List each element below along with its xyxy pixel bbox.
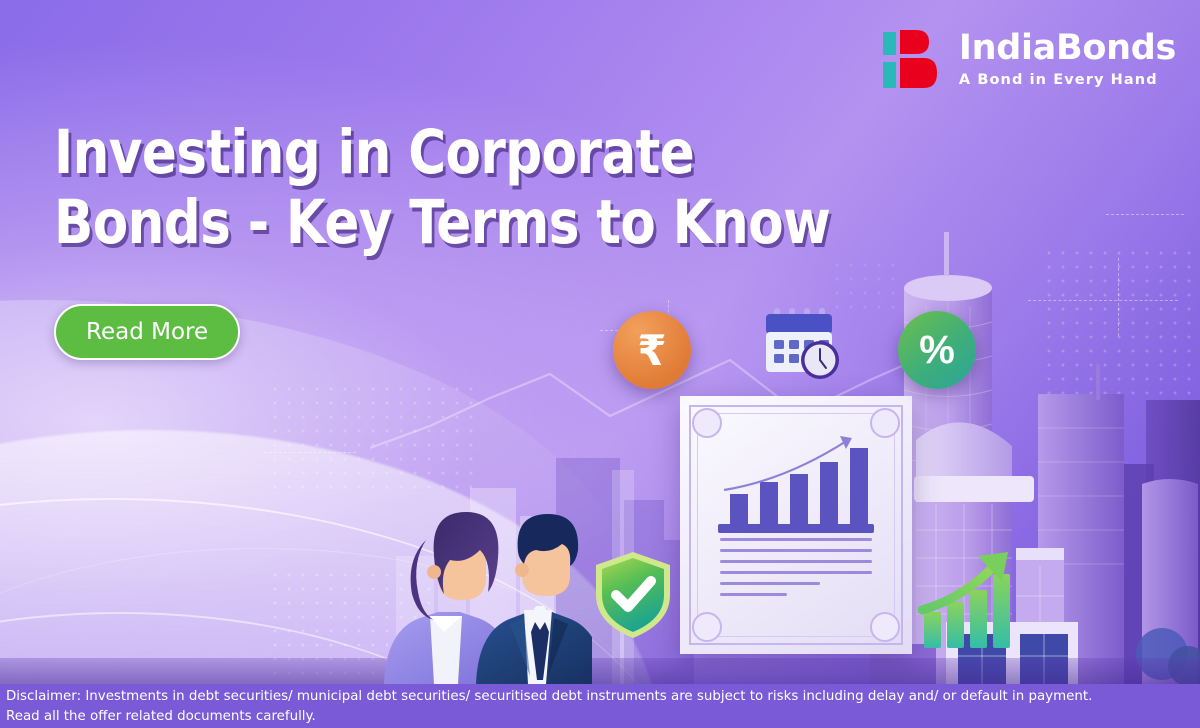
- brand-logo-text: IndiaBonds A Bond in Every Hand: [959, 31, 1176, 88]
- disclaimer-line-1: Disclaimer: Investments in debt securiti…: [6, 687, 1192, 707]
- dot-grid-pattern: [268, 382, 478, 494]
- brand-name: IndiaBonds: [959, 31, 1176, 66]
- growth-bars-icon: [918, 548, 1022, 652]
- certificate-bar-chart: [716, 432, 876, 534]
- percent-glyph: %: [919, 328, 955, 373]
- read-more-button[interactable]: Read More: [54, 304, 240, 360]
- certificate-corner-ornament: [870, 612, 900, 642]
- headline-line-1: Investing in Corporate: [54, 117, 694, 188]
- disclaimer-bar: Disclaimer: Investments in debt securiti…: [0, 684, 1200, 728]
- disclaimer-line-2: Read all the offer related documents car…: [6, 707, 1192, 727]
- page-title: Investing in Corporate Bonds - Key Terms…: [54, 118, 834, 257]
- brand-logo[interactable]: IndiaBonds A Bond in Every Hand: [883, 26, 1176, 92]
- percent-coin-icon: %: [898, 311, 976, 389]
- brand-tagline: A Bond in Every Hand: [959, 73, 1176, 88]
- dashed-guide-line: [264, 452, 356, 453]
- bond-certificate: [680, 396, 912, 654]
- rupee-glyph: ₹: [637, 326, 666, 375]
- certificate-text-lines: [720, 538, 872, 604]
- rupee-coin-icon: ₹: [613, 311, 691, 389]
- headline-line-2: Bonds - Key Terms to Know: [54, 188, 834, 258]
- certificate-corner-ornament: [692, 612, 722, 642]
- shield-check-icon: [592, 549, 674, 641]
- hero-banner: ₹ %: [0, 0, 1200, 728]
- calendar-clock-icon: [760, 306, 842, 382]
- ground-strip: [0, 658, 1200, 684]
- indiabonds-logo-icon: [883, 26, 945, 92]
- people-group: [372, 512, 592, 684]
